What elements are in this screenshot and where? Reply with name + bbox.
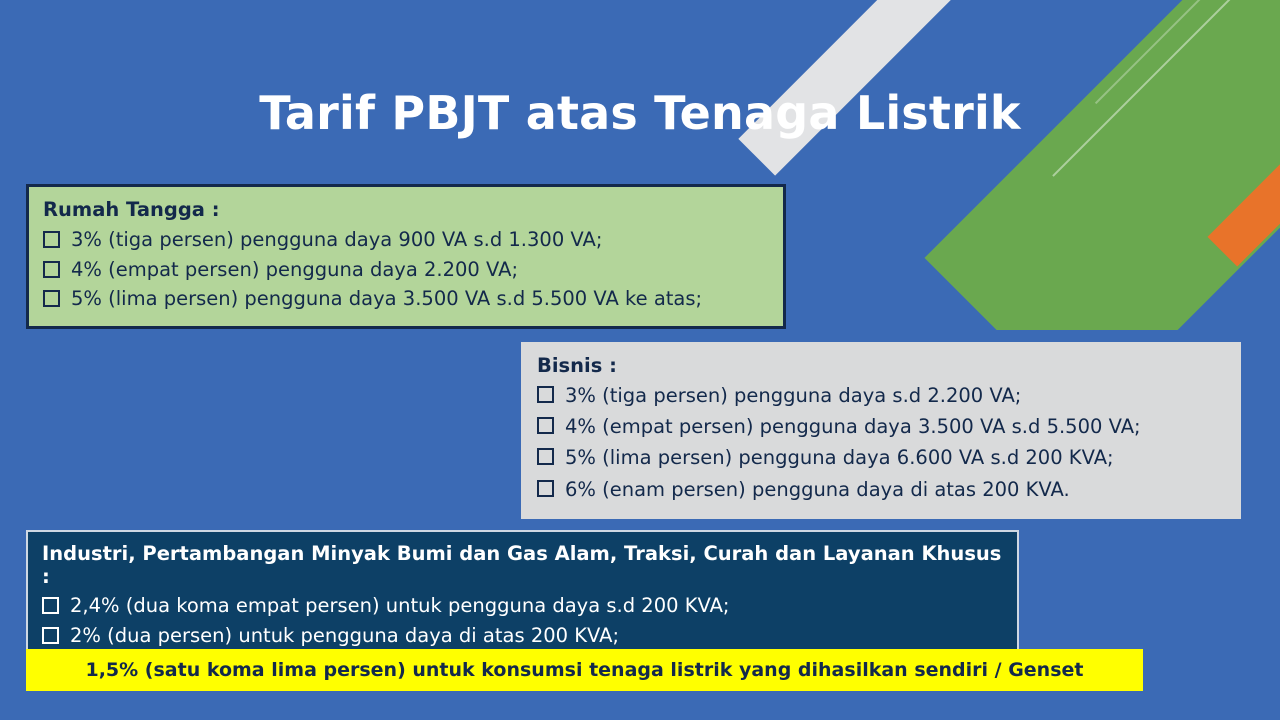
checkbox-bullet-icon	[537, 386, 554, 403]
list-item-label: 6% (enam persen) pengguna daya di atas 2…	[565, 474, 1225, 505]
checkbox-bullet-icon	[537, 480, 554, 497]
list-item-label: 4% (empat persen) pengguna daya 3.500 VA…	[565, 411, 1225, 442]
list-item: 4% (empat persen) pengguna daya 3.500 VA…	[537, 411, 1225, 442]
checkbox-bullet-icon	[43, 231, 60, 248]
list-item: 5% (lima persen) pengguna daya 3.500 VA …	[43, 284, 769, 314]
card-bisnis: Bisnis : 3% (tiga persen) pengguna daya …	[521, 342, 1241, 519]
list-item-label: 5% (lima persen) pengguna daya 6.600 VA …	[565, 442, 1225, 473]
checkbox-bullet-icon	[43, 261, 60, 278]
card-bisnis-list: 3% (tiga persen) pengguna daya s.d 2.200…	[537, 380, 1225, 505]
list-item: 5% (lima persen) pengguna daya 6.600 VA …	[537, 442, 1225, 473]
list-item: 6% (enam persen) pengguna daya di atas 2…	[537, 474, 1225, 505]
list-item: 2,4% (dua koma empat persen) untuk pengg…	[42, 591, 1003, 621]
list-item-label: 3% (tiga persen) pengguna daya s.d 2.200…	[565, 380, 1225, 411]
list-item-label: 4% (empat persen) pengguna daya 2.200 VA…	[71, 255, 769, 285]
checkbox-bullet-icon	[42, 597, 59, 614]
list-item: 3% (tiga persen) pengguna daya 900 VA s.…	[43, 225, 769, 255]
card-industri-list: 2,4% (dua koma empat persen) untuk pengg…	[42, 591, 1003, 652]
card-industri-heading: Industri, Pertambangan Minyak Bumi dan G…	[42, 542, 1003, 588]
checkbox-bullet-icon	[42, 627, 59, 644]
checkbox-bullet-icon	[43, 290, 60, 307]
list-item: 2% (dua persen) untuk pengguna daya di a…	[42, 621, 1003, 651]
card-rumah-tangga-list: 3% (tiga persen) pengguna daya 900 VA s.…	[43, 225, 769, 314]
card-rumah-tangga: Rumah Tangga : 3% (tiga persen) pengguna…	[26, 184, 786, 329]
list-item: 4% (empat persen) pengguna daya 2.200 VA…	[43, 255, 769, 285]
checkbox-bullet-icon	[537, 417, 554, 434]
slide-title: Tarif PBJT atas Tenaga Listrik	[0, 88, 1280, 139]
list-item-label: 2,4% (dua koma empat persen) untuk pengg…	[70, 591, 1003, 621]
list-item-label: 5% (lima persen) pengguna daya 3.500 VA …	[71, 284, 769, 314]
list-item: 3% (tiga persen) pengguna daya s.d 2.200…	[537, 380, 1225, 411]
card-bisnis-heading: Bisnis :	[537, 354, 1225, 377]
card-industri: Industri, Pertambangan Minyak Bumi dan G…	[26, 530, 1019, 666]
card-rumah-tangga-heading: Rumah Tangga :	[43, 198, 769, 221]
list-item-label: 3% (tiga persen) pengguna daya 900 VA s.…	[71, 225, 769, 255]
checkbox-bullet-icon	[537, 448, 554, 465]
card-genset-text: 1,5% (satu koma lima persen) untuk konsu…	[85, 659, 1083, 681]
green-ribbon-shape	[924, 0, 1280, 330]
card-genset: 1,5% (satu koma lima persen) untuk konsu…	[26, 649, 1143, 691]
list-item-label: 2% (dua persen) untuk pengguna daya di a…	[70, 621, 1003, 651]
